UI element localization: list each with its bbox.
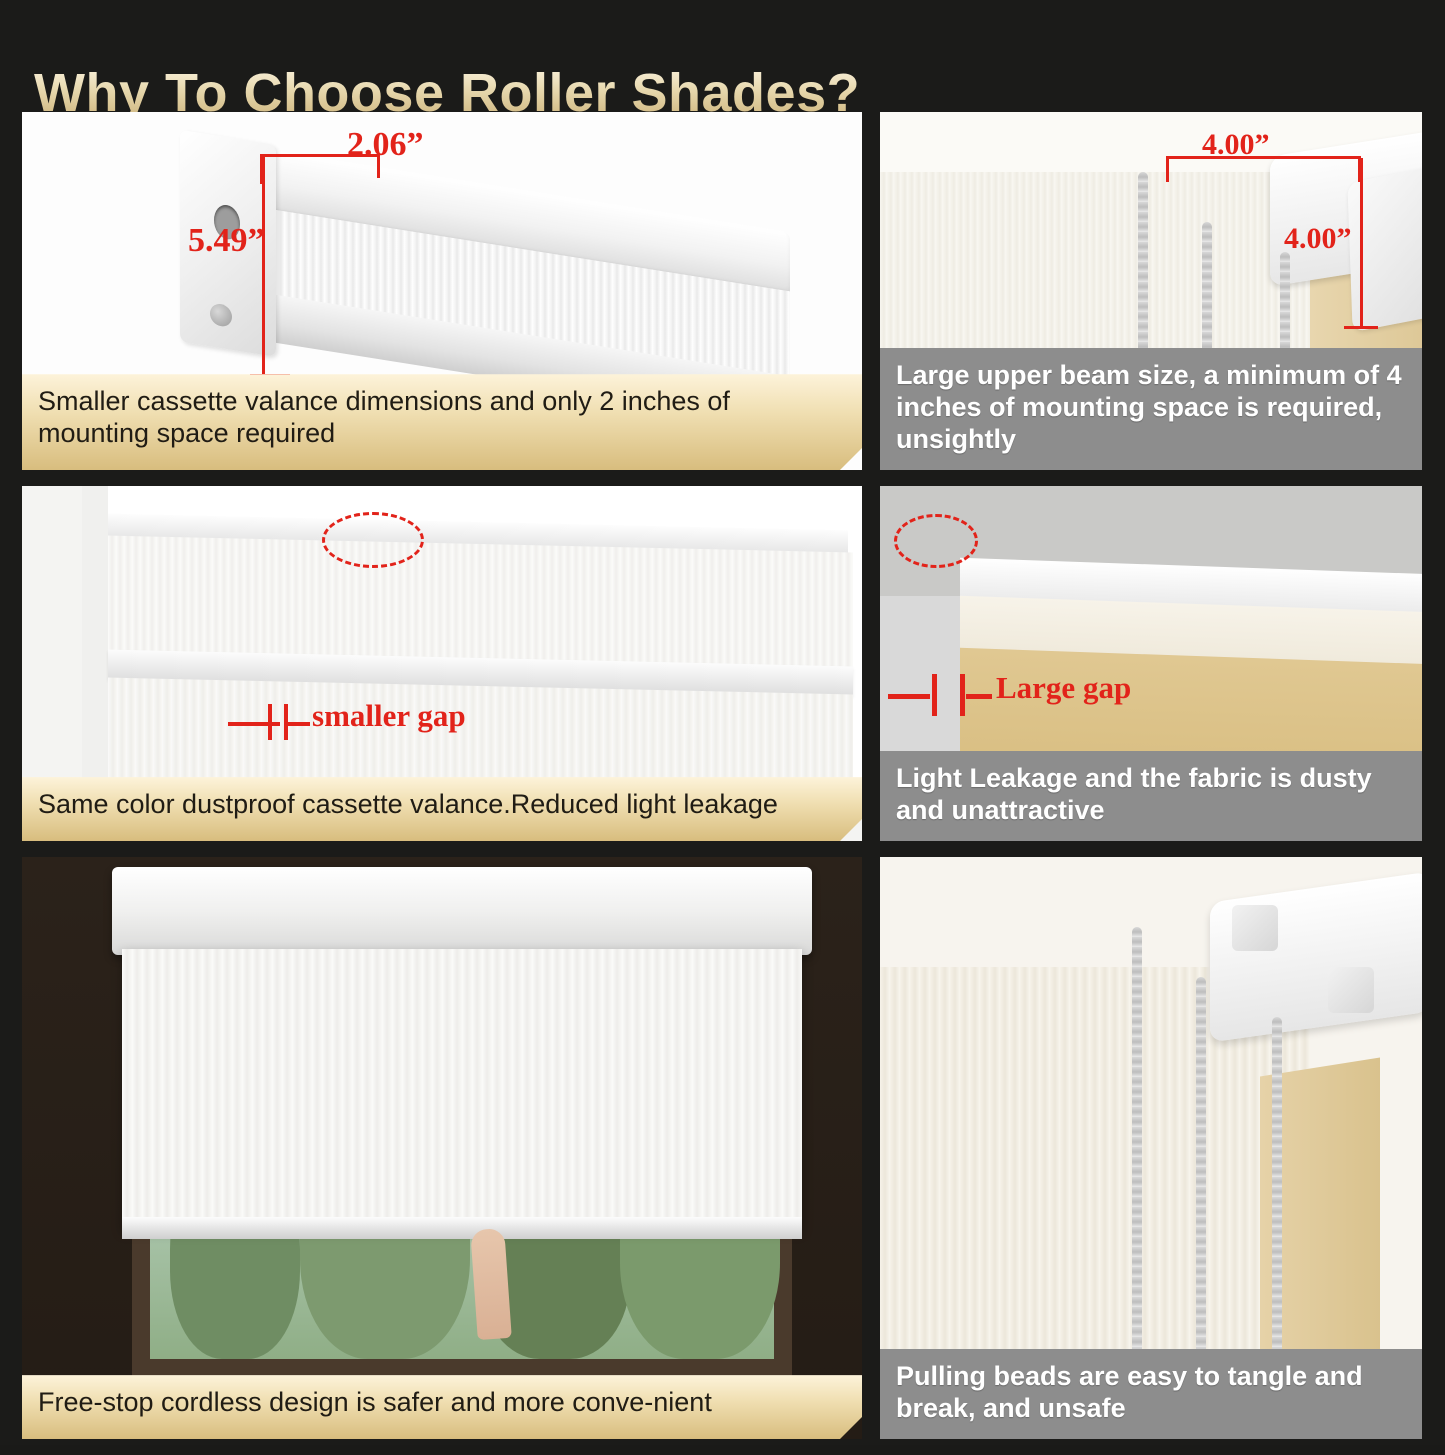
- gap-edge-1: [268, 704, 272, 740]
- roller-shade-fabric: [122, 949, 802, 1229]
- card-light-leakage: Large gap Light Leakage and the fabric i…: [880, 486, 1422, 841]
- card-3-caption: Same color dustproof cassette valance.Re…: [22, 777, 862, 841]
- infographic-page: Why To Choose Roller Shades?: [0, 0, 1445, 1445]
- mount-bracket-left: [1232, 905, 1278, 951]
- highlight-ellipse-icon: [322, 512, 424, 568]
- card-pulling-beads: Pulling beads are easy to tangle and bre…: [880, 857, 1422, 1439]
- gap-edge-1: [932, 674, 937, 716]
- beam-dim-tick-left: [1166, 156, 1169, 182]
- card-dustproof-cassette: smaller gap Same color dustproof cassett…: [22, 486, 862, 841]
- feature-row-1: 2.06” 5.49” Smaller cassette valance dim…: [22, 112, 1422, 470]
- beam-width-label: 4.00”: [1202, 128, 1270, 162]
- card-large-upper-beam: 4.00” 4.00” Large upper beam size, a min…: [880, 112, 1422, 470]
- card-4-caption: Light Leakage and the fabric is dusty an…: [880, 751, 1422, 841]
- card-2-caption: Large upper beam size, a minimum of 4 in…: [880, 348, 1422, 470]
- feature-row-3: Free-stop cordless design is safer and m…: [22, 857, 1422, 1439]
- cassette-valance: [112, 867, 812, 955]
- card-6-caption: Pulling beads are easy to tangle and bre…: [880, 1349, 1422, 1439]
- large-gap-label: Large gap: [996, 670, 1131, 706]
- cordless-design-photo: [22, 857, 862, 1439]
- gap-arrow-left: [228, 722, 280, 726]
- gap-arrow-right: [966, 694, 992, 699]
- card-cordless-design: Free-stop cordless design is safer and m…: [22, 857, 862, 1439]
- beam-dim-line-depth: [1360, 158, 1363, 328]
- feature-row-2: smaller gap Same color dustproof cassett…: [22, 486, 1422, 841]
- bottom-rail: [122, 1217, 802, 1239]
- beam-dim-tick-bottom: [1344, 326, 1378, 329]
- smaller-gap-label: smaller gap: [312, 698, 466, 734]
- gap-arrow-left: [888, 694, 930, 699]
- mount-bracket-right: [1328, 967, 1374, 1013]
- bead-chain-mid: [1196, 977, 1206, 1407]
- card-cassette-valance: 2.06” 5.49” Smaller cassette valance dim…: [22, 112, 862, 470]
- dimension-width-label: 2.06”: [347, 126, 424, 164]
- gap-arrow-right: [286, 722, 310, 726]
- dim-line-height: [262, 156, 265, 376]
- card-1-caption: Smaller cassette valance dimensions and …: [22, 374, 862, 470]
- bead-chain-left: [1132, 927, 1142, 1397]
- dimension-height-label: 5.49”: [188, 222, 265, 260]
- beam-depth-label: 4.00”: [1284, 222, 1352, 256]
- gap-edge-2: [960, 674, 965, 716]
- highlight-ellipse-icon: [894, 514, 978, 568]
- card-5-caption: Free-stop cordless design is safer and m…: [22, 1375, 862, 1439]
- feature-grid: 2.06” 5.49” Smaller cassette valance dim…: [22, 112, 1422, 1455]
